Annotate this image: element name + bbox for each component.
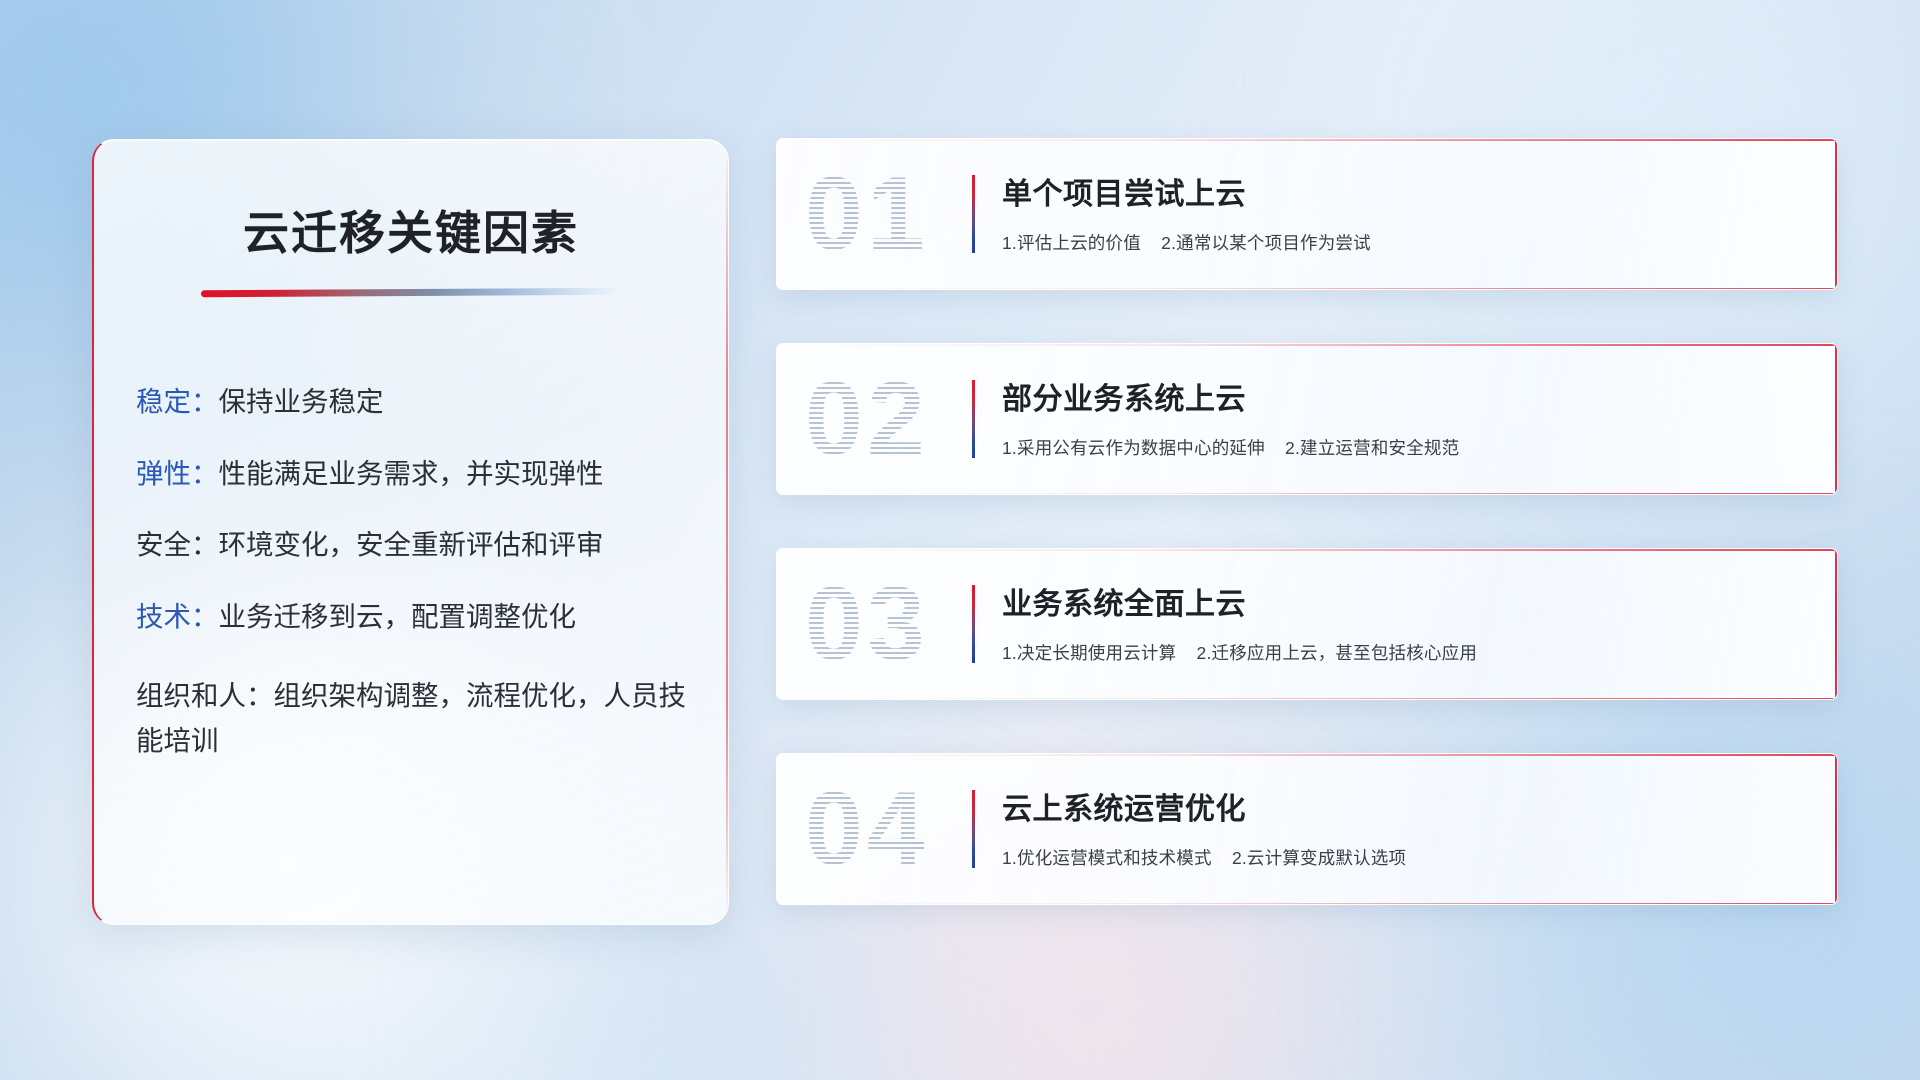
step-number-watermark: 02 [805, 367, 929, 471]
list-item-label: 弹性： [136, 458, 219, 489]
list-item: 技术：业务迁移到云，配置调整优化 [136, 603, 690, 631]
list-item-label: 稳定： [136, 386, 219, 417]
step-subtitle: 1.评估上云的价值 2.通常以某个项目作为尝试 [1002, 230, 1797, 255]
card-bottom-edge [777, 288, 1837, 290]
step-text-block: 云上系统运营优化1.优化运营模式和技术模式 2.云计算变成默认选项 [1002, 784, 1797, 870]
list-item-body: 环境变化，安全重新评估和评审 [219, 529, 604, 560]
card-right-accent [1835, 139, 1837, 289]
page-title: 云迁移关键因素 [94, 197, 728, 263]
step-title: 单个项目尝试上云 [1002, 169, 1797, 213]
key-factors-panel: 云迁移关键因素 稳定：保持业务稳定弹性：性能满足业务需求，并实现弹性安全：环境变… [92, 139, 729, 925]
step-title: 云上系统运营优化 [1002, 784, 1797, 828]
card-bottom-edge [777, 698, 1837, 700]
slide-stage: 云迁移关键因素 稳定：保持业务稳定弹性：性能满足业务需求，并实现弹性安全：环境变… [0, 0, 1920, 1080]
step-number-watermark: 04 [805, 777, 929, 881]
step-number-watermark: 03 [805, 572, 929, 676]
card-right-accent [1835, 549, 1837, 699]
list-item-body: 保持业务稳定 [219, 386, 384, 417]
card-top-edge [777, 139, 1837, 141]
step-title: 部分业务系统上云 [1002, 374, 1797, 418]
title-underline-rule [201, 288, 621, 298]
list-item-body: 性能满足业务需求，并实现弹性 [219, 458, 604, 489]
step-number-text: 04 [805, 777, 929, 881]
step-card[interactable]: 02部分业务系统上云1.采用公有云作为数据中心的延伸 2.建立运营和安全规范 [776, 343, 1838, 495]
card-top-edge [777, 549, 1837, 551]
step-card[interactable]: 01单个项目尝试上云1.评估上云的价值 2.通常以某个项目作为尝试 [776, 138, 1838, 290]
card-bottom-edge [777, 493, 1837, 495]
list-item: 组织和人：组织架构调整，流程优化，人员技能培训 [136, 674, 690, 763]
step-number-watermark: 01 [805, 162, 929, 266]
step-title: 业务系统全面上云 [1002, 579, 1797, 623]
step-number-text: 01 [805, 162, 929, 266]
key-factors-list: 稳定：保持业务稳定弹性：性能满足业务需求，并实现弹性安全：环境变化，安全重新评估… [94, 388, 728, 763]
step-text-block: 业务系统全面上云1.决定长期使用云计算 2.迁移应用上云，甚至包括核心应用 [1002, 579, 1797, 665]
step-card[interactable]: 04云上系统运营优化1.优化运营模式和技术模式 2.云计算变成默认选项 [776, 753, 1838, 905]
step-divider-bar [972, 175, 975, 253]
step-card[interactable]: 03业务系统全面上云1.决定长期使用云计算 2.迁移应用上云，甚至包括核心应用 [776, 548, 1838, 700]
card-top-edge [777, 754, 1837, 756]
list-item-label: 技术： [136, 601, 219, 632]
list-item: 稳定：保持业务稳定 [136, 388, 690, 416]
migration-steps-list: 01单个项目尝试上云1.评估上云的价值 2.通常以某个项目作为尝试02部分业务系… [776, 138, 1838, 958]
list-item-body: 业务迁移到云，配置调整优化 [219, 601, 577, 632]
card-bottom-edge [777, 903, 1837, 905]
list-item-label: 组织和人： [136, 680, 274, 711]
step-divider-bar [972, 585, 975, 663]
step-subtitle: 1.采用公有云作为数据中心的延伸 2.建立运营和安全规范 [1002, 435, 1797, 460]
list-item: 弹性：性能满足业务需求，并实现弹性 [136, 460, 690, 488]
step-number-text: 03 [805, 572, 929, 676]
step-text-block: 单个项目尝试上云1.评估上云的价值 2.通常以某个项目作为尝试 [1002, 169, 1797, 255]
list-item: 安全：环境变化，安全重新评估和评审 [136, 531, 690, 559]
card-right-accent [1835, 344, 1837, 494]
list-item-label: 安全： [136, 529, 219, 560]
step-number-text: 02 [805, 367, 929, 471]
step-divider-bar [972, 380, 975, 458]
card-top-edge [777, 344, 1837, 346]
card-right-accent [1835, 754, 1837, 904]
step-subtitle: 1.优化运营模式和技术模式 2.云计算变成默认选项 [1002, 845, 1797, 870]
step-text-block: 部分业务系统上云1.采用公有云作为数据中心的延伸 2.建立运营和安全规范 [1002, 374, 1797, 460]
step-divider-bar [972, 790, 975, 868]
step-subtitle: 1.决定长期使用云计算 2.迁移应用上云，甚至包括核心应用 [1002, 640, 1797, 665]
